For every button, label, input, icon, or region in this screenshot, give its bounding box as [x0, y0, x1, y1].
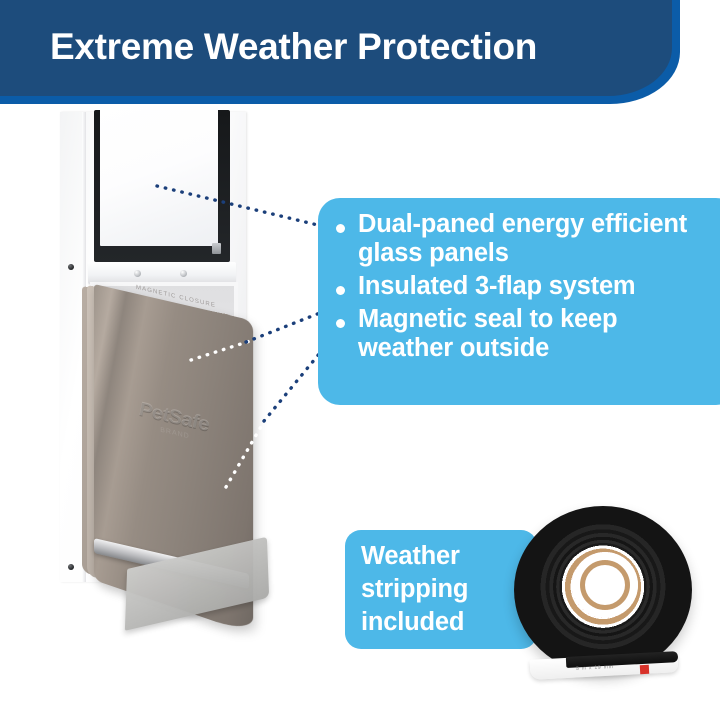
- product-pet-door-image: MAGNETIC CLOSURE PetSafe BRAND: [46, 112, 306, 592]
- feature-text: Insulated 3-flap system: [358, 272, 635, 301]
- page-title: Extreme Weather Protection: [50, 26, 537, 68]
- rail-rivet-icon: [180, 270, 187, 277]
- frame-screw-icon: [68, 264, 74, 270]
- tape-core-hole: [580, 560, 630, 610]
- feature-list-item: Dual-paned energy efficient glass panels: [336, 210, 716, 268]
- tape-tail-red-marker: [640, 665, 649, 674]
- feature-text: Magnetic seal to keep weather outside: [358, 305, 716, 363]
- bullet-dot-icon: [336, 319, 345, 328]
- glass-panel-pane: [100, 106, 218, 246]
- feature-list-item: Insulated 3-flap system: [336, 272, 716, 301]
- rail-rivet-icon: [134, 270, 141, 277]
- frame-screw-icon: [68, 564, 74, 570]
- feature-callout-panel: Dual-paned energy efficient glass panels…: [318, 198, 720, 405]
- dual-paned-glass-panel: [94, 110, 230, 262]
- feature-list-item: Magnetic seal to keep weather outside: [336, 305, 716, 363]
- insulated-three-flap-stack: MAGNETIC CLOSURE PetSafe BRAND: [80, 284, 286, 614]
- feature-text: Dual-paned energy efficient glass panels: [358, 210, 716, 268]
- bullet-dot-icon: [336, 286, 345, 295]
- door-mid-rail: [88, 262, 236, 284]
- foam-tape-roll-image: 5 m x 19 mm: [508, 506, 698, 692]
- feature-list: Dual-paned energy efficient glass panels…: [336, 210, 716, 367]
- header-banner: Extreme Weather Protection: [0, 0, 720, 112]
- glass-panel-latch-icon: [212, 243, 221, 254]
- bullet-dot-icon: [336, 224, 345, 233]
